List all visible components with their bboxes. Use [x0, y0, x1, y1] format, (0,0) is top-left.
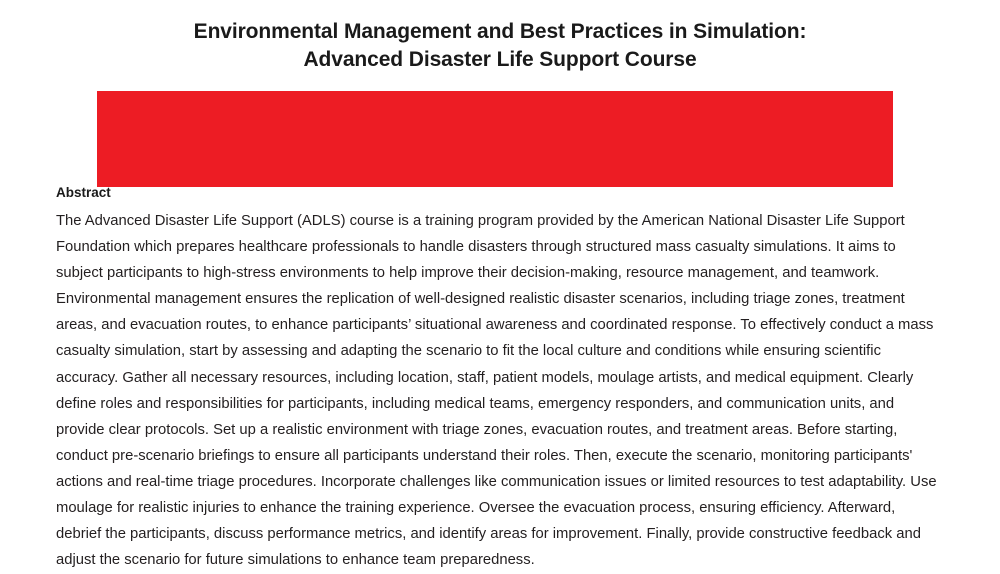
broken-image-placeholder — [97, 91, 893, 187]
page-title-line-1: Environmental Management and Best Practi… — [56, 18, 944, 46]
document-page: Environmental Management and Best Practi… — [0, 0, 1000, 574]
abstract-body-text: The Advanced Disaster Life Support (ADLS… — [56, 208, 938, 573]
page-title-line-2: Advanced Disaster Life Support Course — [56, 46, 944, 74]
abstract-heading: Abstract — [56, 184, 111, 201]
page-title: Environmental Management and Best Practi… — [56, 18, 944, 74]
